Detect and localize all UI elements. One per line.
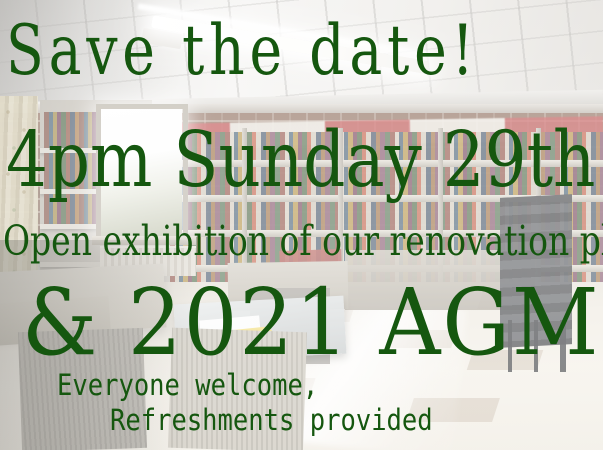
poster-text-layer: Save the date! 4pm Sunday 29th August Op… [0,0,603,450]
headline-save-the-date: Save the date! [6,17,479,86]
line-refreshments: Refreshments provided [110,406,433,435]
poster-canvas: Save the date! 4pm Sunday 29th August Op… [0,0,603,450]
line-event-description: Open exhibition of our renovation plans [3,221,603,262]
line-everyone-welcome: Everyone welcome, [57,371,318,400]
line-agm: & 2021 AGM [22,277,600,369]
line-date-and-time: 4pm Sunday 29th August [6,122,603,199]
